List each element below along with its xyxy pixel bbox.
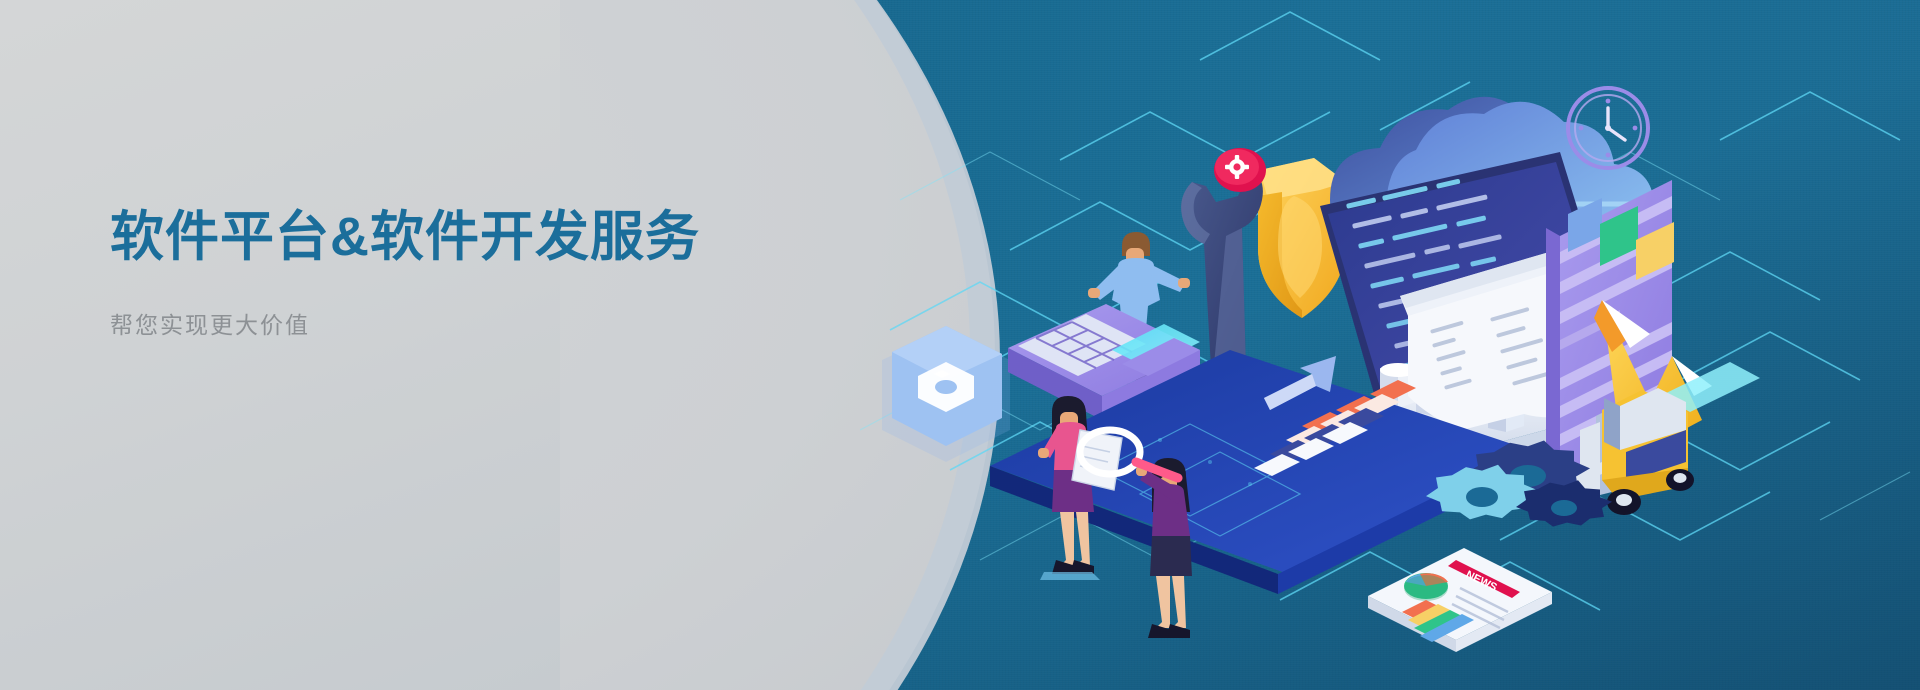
camera-icon: [882, 326, 1010, 462]
page-title: 软件平台&软件开发服务: [110, 206, 700, 270]
left-gray-panel: [0, 0, 560, 690]
clock-icon: [1568, 88, 1648, 168]
gear-badge-icon: [1214, 148, 1266, 192]
news-card: NEWS: [1368, 548, 1552, 652]
banner-text-block: 软件平台&软件开发服务 帮您实现更大价值: [110, 206, 700, 340]
pie-chart-icon: [1404, 573, 1448, 601]
hero-banner: 软件平台&软件开发服务 帮您实现更大价值: [0, 0, 1920, 690]
illustration-root: NEWS: [860, 0, 1920, 690]
page-subtitle: 帮您实现更大价值: [110, 306, 700, 340]
